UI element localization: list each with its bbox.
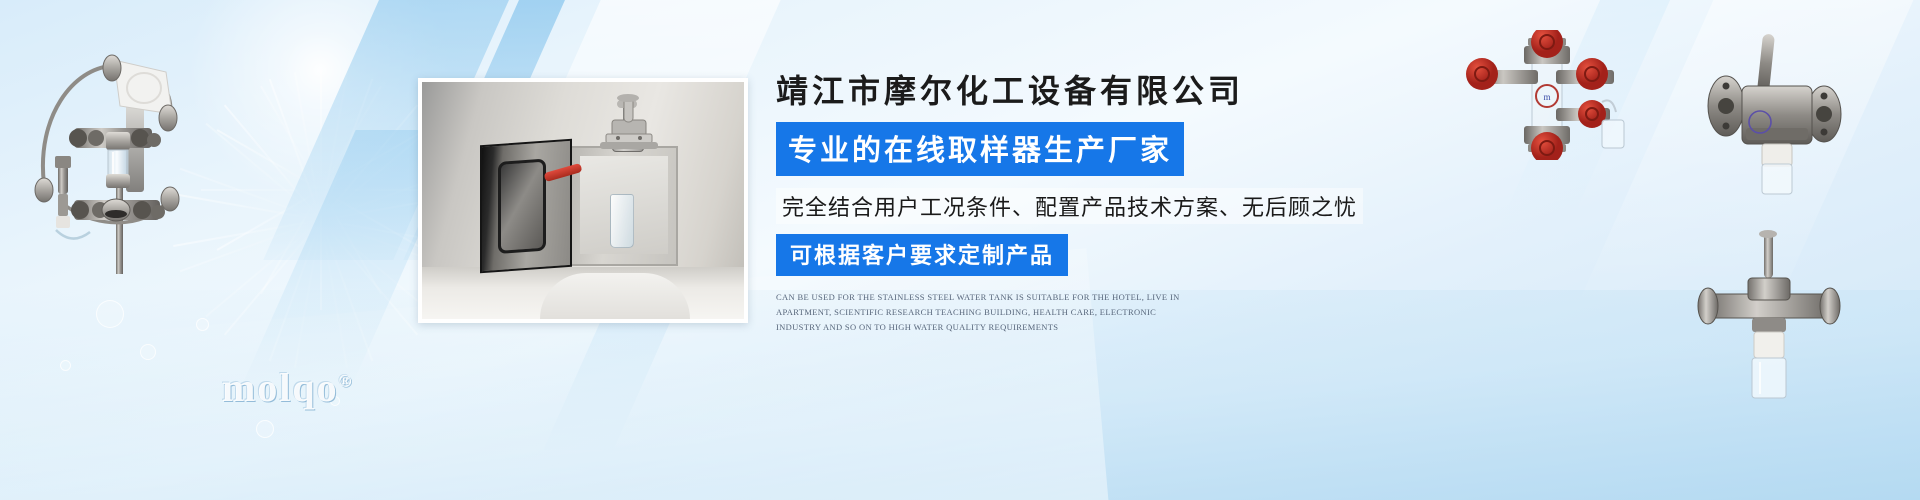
brand-watermark: molqo® <box>222 364 353 411</box>
fineprint-text: CAN BE USED FOR THE STAINLESS STEEL WATE… <box>776 290 1196 335</box>
bubble-icon <box>140 344 156 360</box>
promotional-banner: m <box>0 0 1920 500</box>
bubble-icon <box>60 360 71 371</box>
left-equipment-image <box>8 24 208 274</box>
registered-mark-icon: ® <box>339 372 354 391</box>
subheadline-badge: 可根据客户要求定制产品 <box>776 234 1068 276</box>
description-line: 完全结合用户工况条件、配置产品技术方案、无后顾之忧 <box>776 188 1363 224</box>
svg-text:m: m <box>1543 92 1550 102</box>
product-photo-frame <box>418 78 748 323</box>
bubble-icon <box>96 300 124 328</box>
right-equipment-bottom-valve <box>1690 228 1850 408</box>
watermark-text: molqo <box>222 365 339 410</box>
banner-text-block: 靖江市摩尔化工设备有限公司 专业的在线取样器生产厂家 完全结合用户工况条件、配置… <box>776 72 1416 335</box>
company-title: 靖江市摩尔化工设备有限公司 <box>776 72 1416 110</box>
right-equipment-lever-valve <box>1700 28 1850 198</box>
right-equipment-cross-valve: m <box>1452 30 1642 160</box>
bubble-icon <box>196 318 209 331</box>
bubble-icon <box>256 420 274 438</box>
headline-badge: 专业的在线取样器生产厂家 <box>776 122 1184 176</box>
product-photo <box>422 82 744 319</box>
